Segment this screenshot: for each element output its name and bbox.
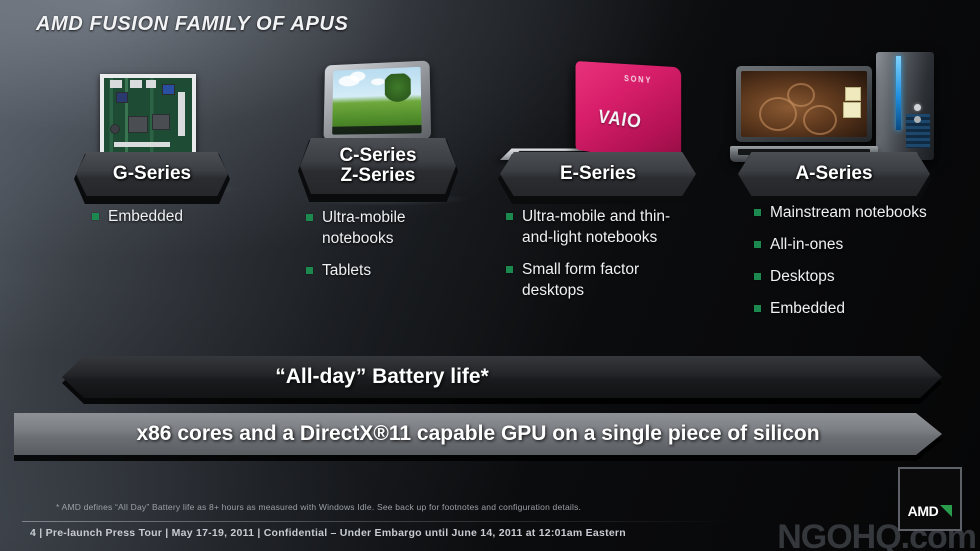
banner-battery-life[interactable]: “All-day” Battery life* <box>62 356 942 398</box>
bullet-text: Ultra-mobile notebooks <box>322 207 476 249</box>
bullet-square-icon <box>754 241 761 248</box>
bullet-text: Embedded <box>770 298 845 319</box>
product-image-desktop-tower <box>876 52 934 160</box>
plate-g-series[interactable]: G-Series <box>76 152 228 196</box>
amd-arrow-icon <box>940 505 952 517</box>
list-item: Small form factor desktops <box>506 259 696 301</box>
list-item: All-in-ones <box>754 234 934 255</box>
bullet-square-icon <box>754 305 761 312</box>
slide-canvas: AMD FUSION FAMILY OF APUS G-Series Embed… <box>0 0 980 551</box>
bullet-list-c-z-series: Ultra-mobile notebooks Tablets <box>306 207 476 292</box>
plate-c-z-series[interactable]: C-Series Z-Series <box>300 138 456 194</box>
sony-logo: SONY <box>624 74 652 85</box>
plate-label-c-series: C-Series <box>339 146 416 166</box>
product-image-embedded-motherboard <box>100 74 196 159</box>
bullet-text: Ultra-mobile and thin-and-light notebook… <box>522 206 696 248</box>
page-title: AMD FUSION FAMILY OF APUS <box>36 13 348 36</box>
banner-text-battery-life: “All-day” Battery life* <box>62 365 942 389</box>
bullet-square-icon <box>506 213 513 220</box>
list-item: Mainstream notebooks <box>754 202 934 223</box>
bullet-text: Small form factor desktops <box>522 259 696 301</box>
plate-label-g-series: G-Series <box>113 164 191 184</box>
bullet-square-icon <box>754 209 761 216</box>
amd-logo-text: AMD <box>908 503 939 519</box>
banner-text-x86-directx: x86 cores and a DirectX®11 capable GPU o… <box>14 422 942 446</box>
product-image-mainstream-laptop <box>730 66 878 164</box>
list-item: Embedded <box>92 206 242 227</box>
bullet-text: Mainstream notebooks <box>770 202 927 223</box>
bullet-square-icon <box>754 273 761 280</box>
bullet-text: All-in-ones <box>770 234 843 255</box>
product-image-tablet <box>324 60 432 140</box>
bullet-square-icon <box>92 213 99 220</box>
plate-label-e-series: E-Series <box>560 164 636 184</box>
footnote-text: * AMD defines “All Day” Battery life as … <box>56 502 581 512</box>
bullet-list-g-series: Embedded <box>92 206 242 238</box>
footer-text: 4 | Pre-launch Press Tour | May 17-19, 2… <box>30 527 626 539</box>
list-item: Tablets <box>306 260 476 281</box>
bullet-text: Tablets <box>322 260 371 281</box>
amd-logo: AMD <box>898 467 962 531</box>
bullet-list-e-series: Ultra-mobile and thin-and-light notebook… <box>506 206 696 312</box>
footer-divider <box>22 521 734 522</box>
plate-a-series[interactable]: A-Series <box>738 152 930 196</box>
list-item: Ultra-mobile and thin-and-light notebook… <box>506 206 696 248</box>
bullet-list-a-series: Mainstream notebooks All-in-ones Desktop… <box>754 202 934 330</box>
bullet-square-icon <box>306 267 313 274</box>
plate-label-a-series: A-Series <box>795 164 872 184</box>
vaio-logo: VAIO <box>598 107 641 134</box>
plate-label-c-z-series: C-Series Z-Series <box>339 146 416 186</box>
list-item: Ultra-mobile notebooks <box>306 207 476 249</box>
banner-x86-directx[interactable]: x86 cores and a DirectX®11 capable GPU o… <box>14 413 942 455</box>
plate-label-z-series: Z-Series <box>339 166 416 186</box>
list-item: Embedded <box>754 298 934 319</box>
bullet-text: Desktops <box>770 266 835 287</box>
list-item: Desktops <box>754 266 934 287</box>
plate-e-series[interactable]: E-Series <box>500 152 696 196</box>
bullet-square-icon <box>506 266 513 273</box>
bullet-square-icon <box>306 214 313 221</box>
bullet-text: Embedded <box>108 206 183 227</box>
